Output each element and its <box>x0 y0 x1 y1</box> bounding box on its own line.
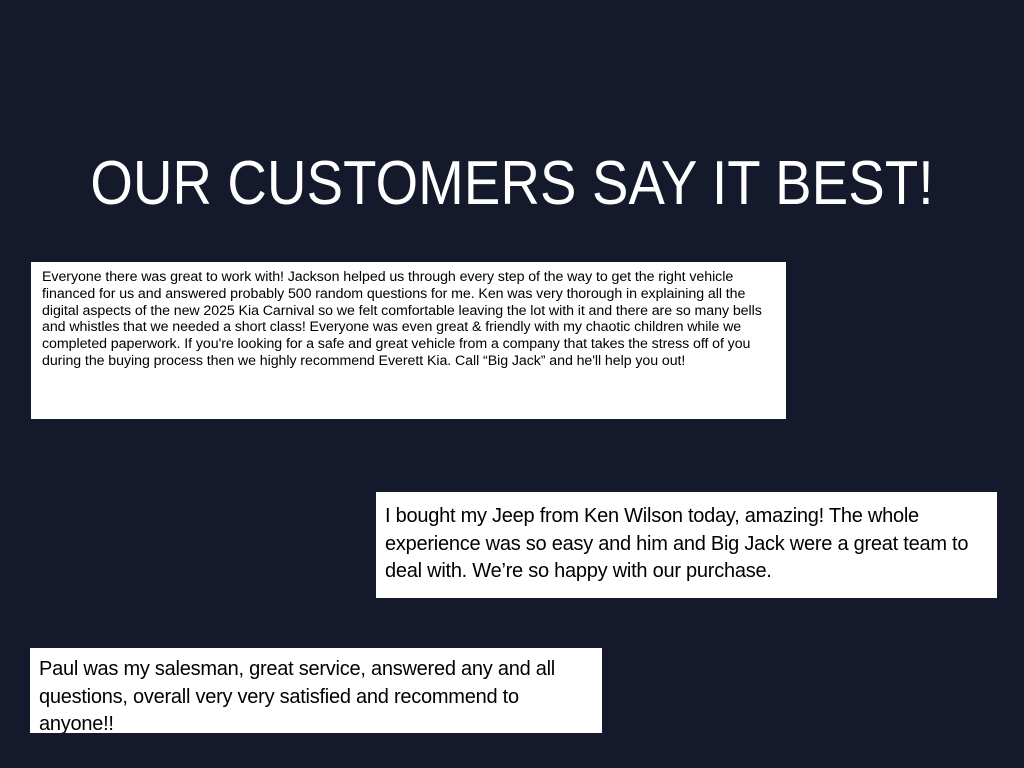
testimonial-text-1: Everyone there was great to work with! J… <box>42 269 776 370</box>
presentation-slide: OUR CUSTOMERS SAY IT BEST! Everyone ther… <box>0 0 1024 768</box>
page-title: OUR CUSTOMERS SAY IT BEST! <box>193 146 830 222</box>
testimonial-text-3: Paul was my salesman, great service, ans… <box>39 656 592 733</box>
testimonial-text-2: I bought my Jeep from Ken Wilson today, … <box>385 503 985 586</box>
testimonial-card-1: Everyone there was great to work with! J… <box>31 262 786 419</box>
testimonial-card-3: Paul was my salesman, great service, ans… <box>30 648 602 733</box>
testimonial-card-2: I bought my Jeep from Ken Wilson today, … <box>376 492 997 598</box>
